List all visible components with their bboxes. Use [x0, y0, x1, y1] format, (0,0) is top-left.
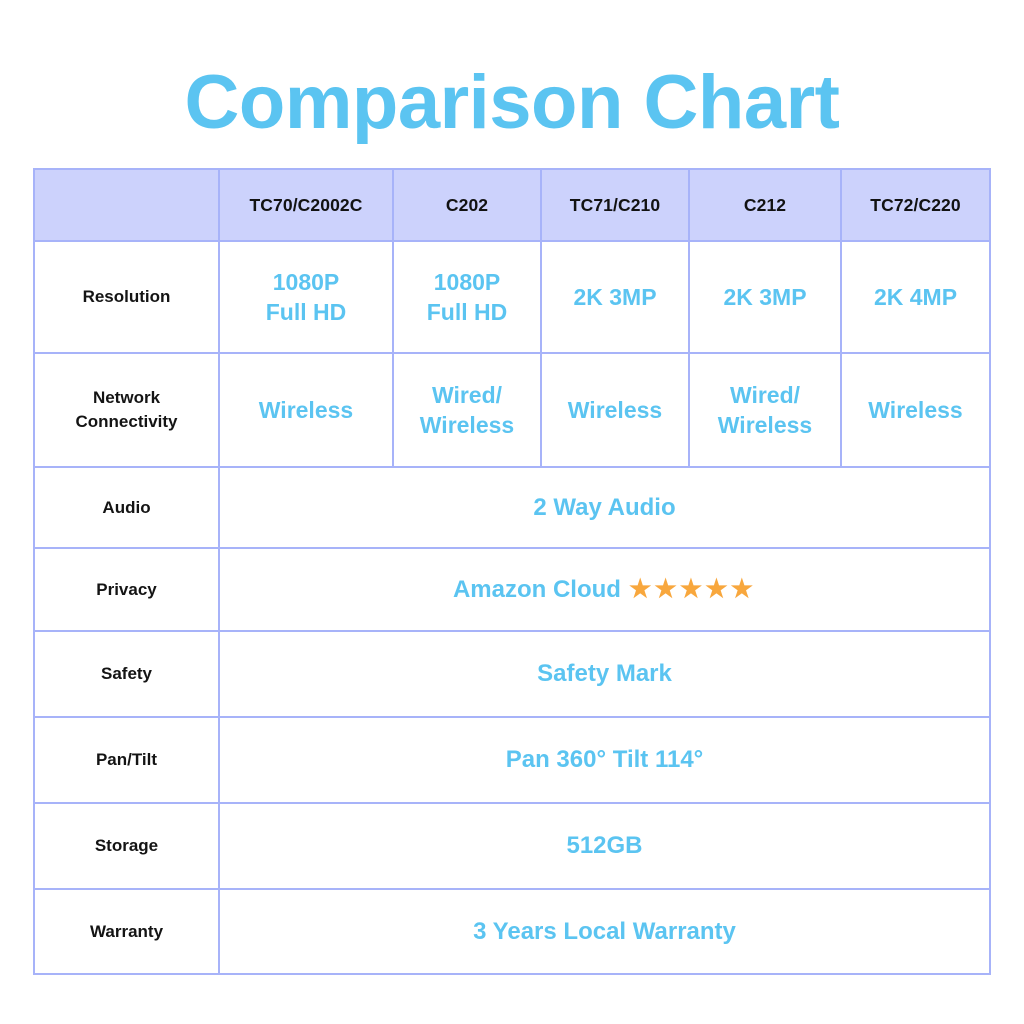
row-label-line-1: Network	[93, 388, 160, 407]
comparison-table: TC70/C2002C C202 TC71/C210 C212 TC72/C22…	[33, 168, 991, 975]
table-row-privacy: Privacy Amazon Cloud★★★★★	[34, 548, 990, 631]
cell-warranty-merged: 3 Years Local Warranty	[219, 889, 990, 974]
table-row-network-connectivity: NetworkConnectivity Wireless Wired/ Wire…	[34, 353, 990, 467]
cell-storage-merged: 512GB	[219, 803, 990, 889]
header-cell-model-2: C202	[393, 169, 541, 241]
cell-audio-merged: 2 Way Audio	[219, 467, 990, 548]
cell-network-2: Wired/ Wireless	[393, 353, 541, 467]
cell-resolution-1: 1080P Full HD	[219, 241, 393, 353]
row-label-pan-tilt: Pan/Tilt	[34, 717, 219, 803]
row-label-audio: Audio	[34, 467, 219, 548]
cell-network-3: Wireless	[541, 353, 689, 467]
cell-resolution-2: 1080P Full HD	[393, 241, 541, 353]
row-label-storage: Storage	[34, 803, 219, 889]
cell-resolution-4: 2K 3MP	[689, 241, 841, 353]
header-cell-model-1: TC70/C2002C	[219, 169, 393, 241]
header-cell-model-3: TC71/C210	[541, 169, 689, 241]
row-label-line-2: Connectivity	[75, 412, 177, 431]
comparison-chart-page: Comparison Chart TC70/C2002C C202 TC71/C…	[0, 0, 1024, 1024]
header-cell-model-4: C212	[689, 169, 841, 241]
cell-network-1: Wireless	[219, 353, 393, 467]
table-header: TC70/C2002C C202 TC71/C210 C212 TC72/C22…	[34, 169, 990, 241]
table-row-audio: Audio 2 Way Audio	[34, 467, 990, 548]
header-cell-corner	[34, 169, 219, 241]
table-body: Resolution 1080P Full HD 1080P Full HD 2…	[34, 241, 990, 974]
cell-pan-tilt-merged: Pan 360° Tilt 114°	[219, 717, 990, 803]
table-row-warranty: Warranty 3 Years Local Warranty	[34, 889, 990, 974]
table-row-resolution: Resolution 1080P Full HD 1080P Full HD 2…	[34, 241, 990, 353]
table-header-row: TC70/C2002C C202 TC71/C210 C212 TC72/C22…	[34, 169, 990, 241]
row-label-warranty: Warranty	[34, 889, 219, 974]
header-cell-model-5: TC72/C220	[841, 169, 990, 241]
table-row-safety: Safety Safety Mark	[34, 631, 990, 717]
cell-privacy-merged: Amazon Cloud★★★★★	[219, 548, 990, 631]
page-title: Comparison Chart	[0, 57, 1024, 149]
table-row-storage: Storage 512GB	[34, 803, 990, 889]
row-label-privacy: Privacy	[34, 548, 219, 631]
cell-safety-merged: Safety Mark	[219, 631, 990, 717]
star-rating-icon: ★★★★★	[629, 574, 756, 604]
cell-resolution-5: 2K 4MP	[841, 241, 990, 353]
cell-network-5: Wireless	[841, 353, 990, 467]
row-label-network-connectivity: NetworkConnectivity	[34, 353, 219, 467]
comparison-table-wrapper: TC70/C2002C C202 TC71/C210 C212 TC72/C22…	[33, 168, 989, 974]
privacy-value-text: Amazon Cloud	[453, 575, 621, 605]
cell-resolution-3: 2K 3MP	[541, 241, 689, 353]
cell-network-4: Wired/ Wireless	[689, 353, 841, 467]
row-label-safety: Safety	[34, 631, 219, 717]
table-row-pan-tilt: Pan/Tilt Pan 360° Tilt 114°	[34, 717, 990, 803]
row-label-resolution: Resolution	[34, 241, 219, 353]
